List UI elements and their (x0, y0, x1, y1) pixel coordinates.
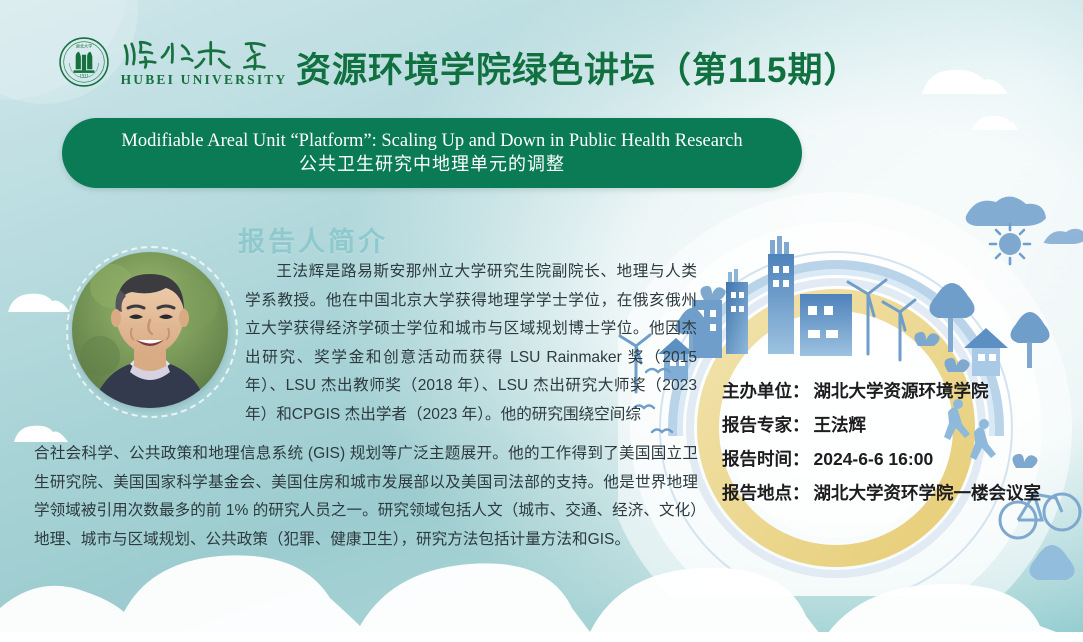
detail-value-time: 2024-6-6 16:00 (814, 449, 934, 470)
detail-row-organizer: 主办单位： 湖北大学资源环境学院 (722, 378, 1041, 403)
detail-row-time: 报告时间： 2024-6-6 16:00 (722, 446, 1041, 471)
detail-label-time: 报告时间： (722, 446, 810, 471)
university-cn-calligraphy-icon (120, 37, 288, 71)
detail-label-speaker: 报告专家： (722, 412, 810, 437)
detail-row-location: 报告地点： 湖北大学资环学院一楼会议室 (722, 480, 1041, 505)
poster-header: 1931 湖北大学 (0, 0, 1083, 112)
detail-value-location: 湖北大学资环学院一楼会议室 (814, 480, 1042, 505)
cloud-decor-top-right-small (972, 115, 1018, 130)
detail-value-organizer: 湖北大学资源环境学院 (814, 378, 989, 403)
speaker-bio-wide: 合社会科学、公共政策和地理信息系统 (GIS) 规划等广泛主题展开。他的工作得到… (34, 440, 698, 554)
lecture-title-english: Modifiable Areal Unit “Platform”: Scalin… (121, 130, 742, 152)
lecture-title-chinese: 公共卫生研究中地理单元的调整 (299, 152, 565, 176)
detail-label-location: 报告地点： (722, 480, 810, 505)
detail-value-speaker: 王法辉 (814, 412, 867, 437)
svg-text:湖北大学: 湖北大学 (76, 42, 93, 48)
detail-row-speaker: 报告专家： 王法辉 (722, 412, 1041, 437)
avatar (72, 252, 228, 408)
speaker-section-heading: 报告人简介 (238, 220, 388, 259)
detail-label-organizer: 主办单位： (722, 378, 810, 403)
university-en-name: HUBEI UNIVERSITY (121, 72, 288, 88)
cloud-decor-left-upper (8, 292, 70, 312)
hubei-university-emblem-icon: 1931 湖北大学 (58, 36, 110, 88)
page-title: 资源环境学院绿色讲坛（第115期） (296, 42, 859, 93)
university-wordmark: HUBEI UNIVERSITY (120, 37, 288, 88)
university-logo: 1931 湖北大学 (58, 36, 288, 88)
speaker-photo-icon (72, 252, 228, 408)
speaker-bio-column: 王法辉是路易斯安那州立大学研究生院副院长、地理与人类学系教授。他在中国北京大学获… (245, 258, 697, 429)
event-details: 主办单位： 湖北大学资源环境学院 报告专家： 王法辉 报告时间： 2024-6-… (722, 378, 1041, 514)
bottom-cloud-wave-decor (0, 546, 1083, 642)
poster-canvas: 1931 湖北大学 (0, 0, 1083, 642)
sun-icon (990, 224, 1030, 264)
speaker-portrait-wrap (72, 252, 240, 420)
